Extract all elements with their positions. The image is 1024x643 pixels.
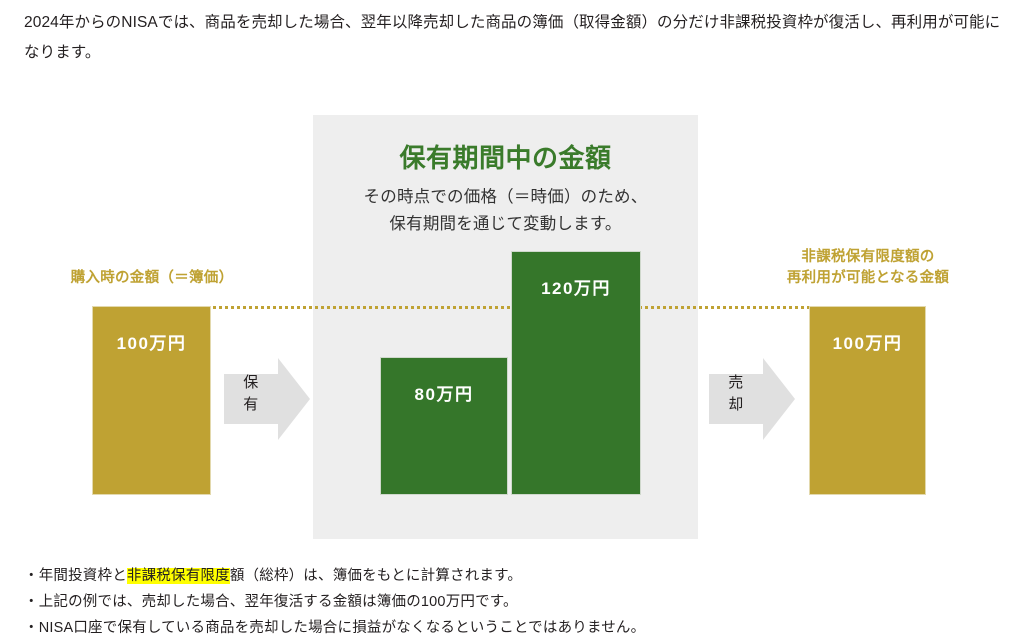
basis-reference-line bbox=[92, 306, 926, 309]
footnote-2: ・上記の例では、売却した場合、翌年復活する金額は簿価の100万円です。 bbox=[24, 589, 1004, 615]
bar-redeem: 100万円 bbox=[809, 306, 926, 495]
holding-period-title: 保有期間中の金額 bbox=[313, 138, 698, 175]
footnote-1-post: 額（総枠）は、簿価をもとに計算されます。 bbox=[230, 568, 522, 584]
bar-holding-low-value: 80万円 bbox=[381, 380, 507, 405]
footnote-1-pre: ・年間投資枠と bbox=[24, 568, 127, 584]
hold-arrow-label: 保有 bbox=[238, 372, 264, 416]
purchase-amount-caption: 購入時の金額（＝簿価） bbox=[47, 268, 257, 289]
holding-period-subtitle: その時点での価格（＝時価）のため、 保有期間を通じて変動します。 bbox=[313, 184, 698, 238]
bar-holding-low: 80万円 bbox=[380, 357, 508, 495]
footnote-3: ・NISA口座で保有している商品を売却した場合に損益がなくなるということではあり… bbox=[24, 615, 1004, 641]
sell-arrow-label: 売却 bbox=[723, 372, 749, 416]
footnote-1-highlight: 非課税保有限度 bbox=[127, 568, 230, 584]
bar-holding-high: 120万円 bbox=[511, 251, 641, 495]
arrow-right-icon bbox=[224, 358, 310, 440]
footnotes: ・年間投資枠と非課税保有限度額（総枠）は、簿価をもとに計算されます。 ・上記の例… bbox=[24, 563, 1004, 641]
arrow-right-icon bbox=[709, 358, 795, 440]
hold-arrow: 保有 bbox=[224, 358, 310, 440]
bar-redeem-value: 100万円 bbox=[810, 329, 925, 354]
footnote-1: ・年間投資枠と非課税保有限度額（総枠）は、簿価をもとに計算されます。 bbox=[24, 563, 1004, 589]
bar-purchase-value: 100万円 bbox=[93, 329, 210, 354]
reuse-amount-caption: 非課税保有限度額の 再利用が可能となる金額 bbox=[778, 247, 958, 289]
bar-purchase: 100万円 bbox=[92, 306, 211, 495]
intro-paragraph: 2024年からのNISAでは、商品を売却した場合、翌年以降売却した商品の簿価（取… bbox=[24, 8, 1002, 68]
nisa-reuse-diagram: 保有期間中の金額 その時点での価格（＝時価）のため、 保有期間を通じて変動します… bbox=[0, 100, 1024, 550]
bar-holding-high-value: 120万円 bbox=[512, 274, 640, 299]
sell-arrow: 売却 bbox=[709, 358, 795, 440]
